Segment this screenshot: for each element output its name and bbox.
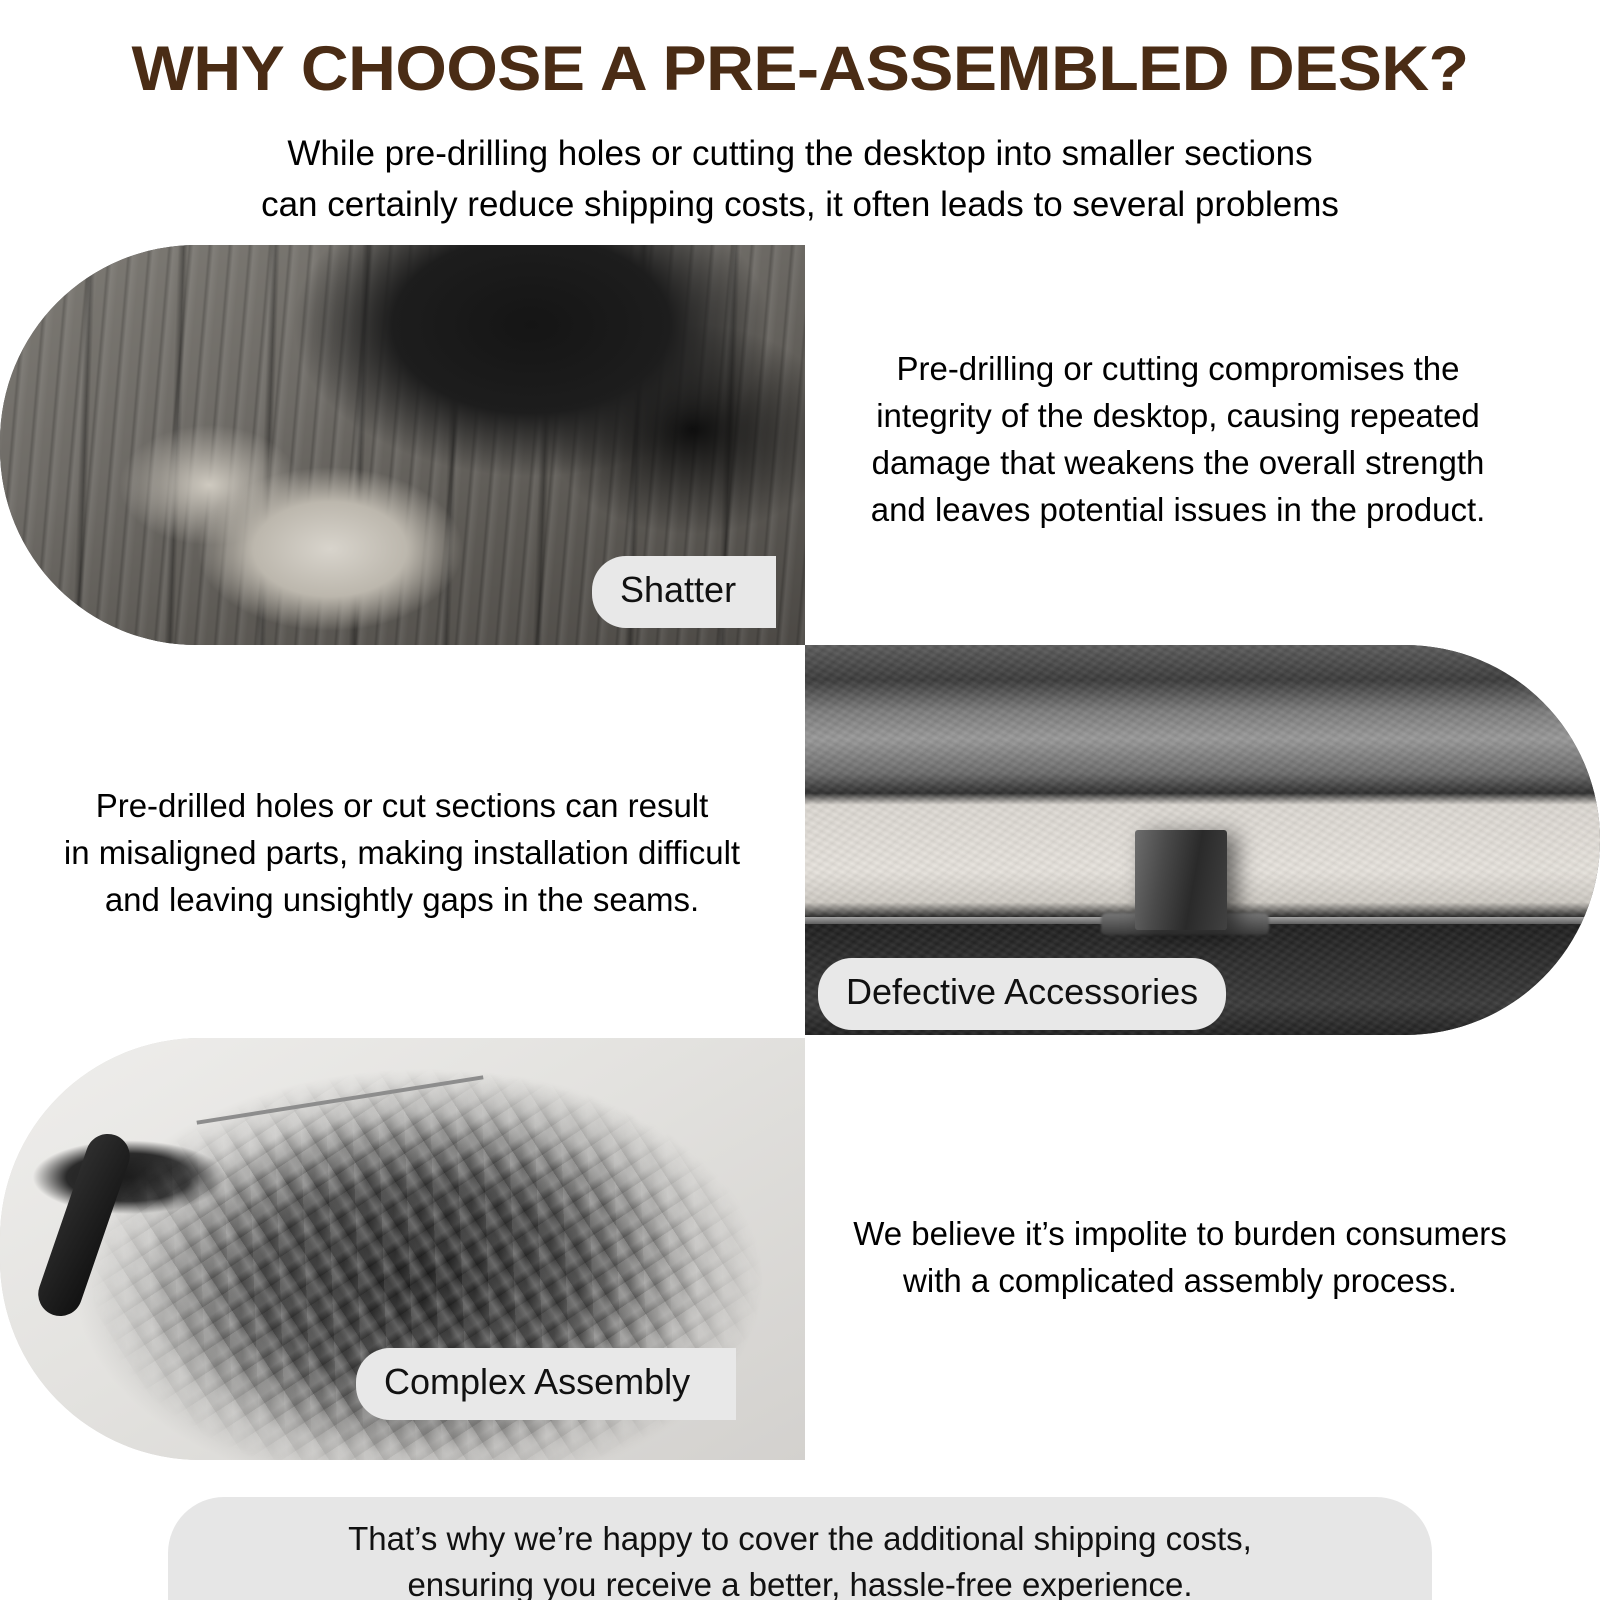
copy-line: and leaving unsightly gaps in the seams. xyxy=(22,876,782,923)
copy-block-integrity: Pre-drilling or cutting compromises the … xyxy=(828,345,1528,533)
copy-line: with a complicated assembly process. xyxy=(820,1257,1540,1304)
copy-line: damage that weakens the overall strength xyxy=(828,439,1528,486)
copy-line: in misaligned parts, making installation… xyxy=(22,829,782,876)
page-subtitle-line-1: While pre-drilling holes or cutting the … xyxy=(0,128,1600,179)
caption-badge-complex-assembly: Complex Assembly xyxy=(356,1348,736,1420)
copy-block-misaligned: Pre-drilled holes or cut sections can re… xyxy=(22,782,782,923)
copy-line: Pre-drilled holes or cut sections can re… xyxy=(22,782,782,829)
infographic-page: WHY CHOOSE A PRE-ASSEMBLED DESK? While p… xyxy=(0,0,1600,1600)
caption-badge-shatter: Shatter xyxy=(592,556,776,628)
footer-text: That’s why we’re happy to cover the addi… xyxy=(168,1516,1432,1600)
footer-banner: That’s why we’re happy to cover the addi… xyxy=(168,1497,1432,1600)
metal-bracket-shape xyxy=(1135,830,1227,930)
page-subtitle-line-2: can certainly reduce shipping costs, it … xyxy=(0,179,1600,230)
copy-line: and leaves potential issues in the produ… xyxy=(828,486,1528,533)
copy-line: integrity of the desktop, causing repeat… xyxy=(828,392,1528,439)
copy-line: Pre-drilling or cutting compromises the xyxy=(828,345,1528,392)
footer-line: That’s why we’re happy to cover the addi… xyxy=(168,1516,1432,1562)
copy-line: We believe it’s impolite to burden consu… xyxy=(820,1210,1540,1257)
page-title: WHY CHOOSE A PRE-ASSEMBLED DESK? xyxy=(0,38,1600,101)
page-subtitle: While pre-drilling holes or cutting the … xyxy=(0,128,1600,230)
copy-block-impolite: We believe it’s impolite to burden consu… xyxy=(820,1210,1540,1304)
footer-line: ensuring you receive a better, hassle-fr… xyxy=(168,1562,1432,1600)
caption-badge-defective-accessories: Defective Accessories xyxy=(818,958,1226,1030)
